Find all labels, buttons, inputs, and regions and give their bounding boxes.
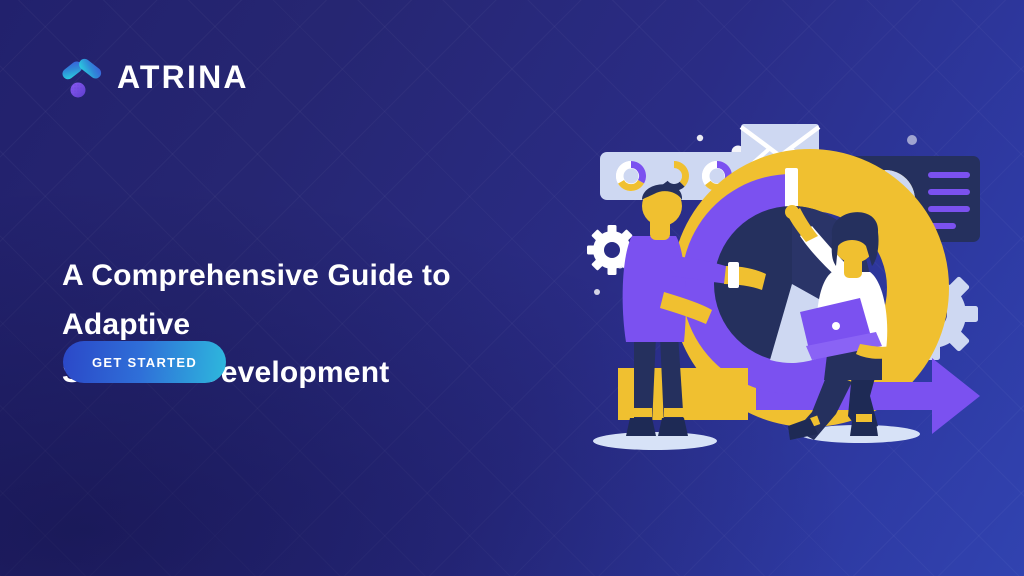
hero-banner: ATRINA A Comprehensive Guide to Adaptive… — [0, 0, 1024, 576]
team-analytics-illustration — [560, 96, 1008, 480]
atrina-a-mark-icon — [62, 54, 104, 100]
brand-logo[interactable]: ATRINA — [62, 54, 249, 100]
get-started-button[interactable]: GET STARTED — [63, 341, 226, 383]
brand-name: ATRINA — [117, 61, 249, 93]
headline-line-1: A Comprehensive Guide to Adaptive — [62, 252, 582, 349]
